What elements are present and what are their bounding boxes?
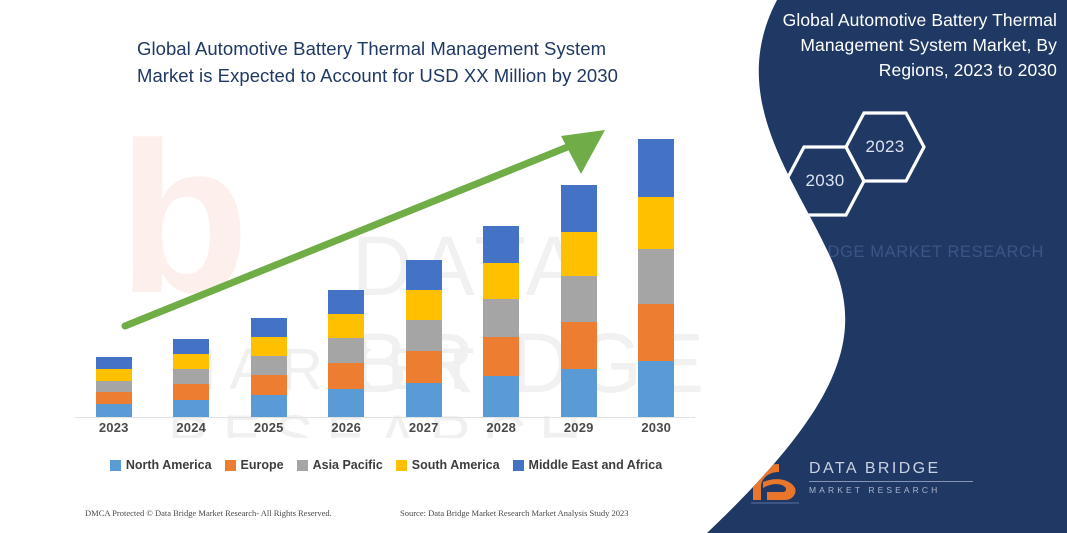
x-tick-2027: 2027	[394, 420, 454, 435]
legend-swatch-icon	[396, 460, 407, 471]
bar-segment-middle-east-and-africa-2027[interactable]	[406, 260, 442, 290]
hexagon-badge-2023: 2023	[843, 110, 927, 184]
legend-label: Europe	[241, 458, 284, 472]
bar-segment-europe-2029[interactable]	[561, 322, 597, 369]
legend-swatch-icon	[225, 460, 236, 471]
x-tick-2028: 2028	[471, 420, 531, 435]
bar-segment-europe-2030[interactable]	[638, 304, 674, 361]
footer: DMCA Protected © Data Bridge Market Rese…	[0, 505, 700, 529]
x-tick-2029: 2029	[549, 420, 609, 435]
bar-segment-south-america-2023[interactable]	[96, 369, 132, 381]
bar-segment-north-america-2024[interactable]	[173, 400, 209, 417]
bar-segment-south-america-2026[interactable]	[328, 314, 364, 338]
hexagon-2023-label: 2023	[865, 137, 904, 157]
x-tick-2025: 2025	[239, 420, 299, 435]
footer-copyright: DMCA Protected © Data Bridge Market Rese…	[85, 508, 332, 518]
bar-segment-asia-pacific-2028[interactable]	[483, 299, 519, 337]
bar-segment-south-america-2029[interactable]	[561, 232, 597, 276]
bar-segment-middle-east-and-africa-2026[interactable]	[328, 290, 364, 314]
bar-segment-europe-2024[interactable]	[173, 384, 209, 400]
bar-segment-north-america-2023[interactable]	[96, 404, 132, 417]
bar-segment-middle-east-and-africa-2024[interactable]	[173, 339, 209, 354]
bar-2026[interactable]	[328, 290, 364, 417]
right-side-panel: Global Automotive Battery Thermal Manage…	[667, 0, 1067, 533]
bar-segment-asia-pacific-2026[interactable]	[328, 338, 364, 363]
bar-segment-middle-east-and-africa-2029[interactable]	[561, 185, 597, 232]
logo-text-block: DATA BRIDGE MARKET RESEARCH	[809, 460, 973, 495]
bar-segment-asia-pacific-2030[interactable]	[638, 249, 674, 304]
legend-label: Middle East and Africa	[529, 458, 663, 472]
bar-segment-north-america-2030[interactable]	[638, 361, 674, 417]
bar-segment-north-america-2029[interactable]	[561, 369, 597, 417]
hexagon-2030-label: 2030	[805, 171, 844, 191]
bar-segment-asia-pacific-2027[interactable]	[406, 320, 442, 351]
bar-segment-middle-east-and-africa-2028[interactable]	[483, 226, 519, 263]
legend-swatch-icon	[297, 460, 308, 471]
legend-item-asia-pacific[interactable]: Asia Pacific	[297, 458, 383, 472]
panel-brand-text: DATA BRIDGE MARKET RESEARCH	[737, 240, 1057, 266]
stacked-bar-group	[75, 121, 695, 417]
legend-item-south-america[interactable]: South America	[396, 458, 500, 472]
logo-title: DATA BRIDGE	[809, 460, 973, 478]
legend-item-north-america[interactable]: North America	[110, 458, 212, 472]
bar-segment-south-america-2024[interactable]	[173, 354, 209, 369]
bar-segment-north-america-2027[interactable]	[406, 383, 442, 417]
x-tick-2024: 2024	[161, 420, 221, 435]
legend-item-middle-east-and-africa[interactable]: Middle East and Africa	[513, 458, 663, 472]
logo-subtitle: MARKET RESEARCH	[809, 485, 973, 495]
bar-segment-asia-pacific-2023[interactable]	[96, 381, 132, 392]
bar-segment-north-america-2028[interactable]	[483, 376, 519, 417]
panel-heading: Global Automotive Battery Thermal Manage…	[727, 8, 1057, 83]
bar-segment-europe-2026[interactable]	[328, 363, 364, 389]
x-tick-2026: 2026	[316, 420, 376, 435]
data-bridge-b-logo-icon	[747, 456, 803, 504]
page-title: Global Automotive Battery Thermal Manage…	[137, 36, 657, 90]
bar-segment-middle-east-and-africa-2023[interactable]	[96, 357, 132, 369]
bar-2029[interactable]	[561, 185, 597, 417]
bar-segment-asia-pacific-2024[interactable]	[173, 369, 209, 384]
legend-label: North America	[126, 458, 212, 472]
bar-2028[interactable]	[483, 226, 519, 417]
bar-2024[interactable]	[173, 339, 209, 417]
bar-segment-south-america-2030[interactable]	[638, 197, 674, 249]
bar-2027[interactable]	[406, 260, 442, 417]
footer-source: Source: Data Bridge Market Research Mark…	[400, 508, 629, 518]
brand-logo: DATA BRIDGE MARKET RESEARCH	[687, 452, 1017, 508]
legend-label: South America	[412, 458, 500, 472]
bar-2025[interactable]	[251, 318, 287, 417]
bar-segment-europe-2025[interactable]	[251, 375, 287, 395]
legend-swatch-icon	[513, 460, 524, 471]
bar-segment-europe-2023[interactable]	[96, 392, 132, 404]
bar-segment-middle-east-and-africa-2025[interactable]	[251, 318, 287, 337]
x-tick-2030: 2030	[626, 420, 686, 435]
bar-segment-south-america-2025[interactable]	[251, 337, 287, 356]
bar-segment-north-america-2026[interactable]	[328, 389, 364, 417]
bar-2030[interactable]	[638, 139, 674, 417]
x-axis-tick-labels: 20232024202520262027202820292030	[75, 420, 695, 444]
bar-segment-middle-east-and-africa-2030[interactable]	[638, 139, 674, 197]
chart-legend: North AmericaEuropeAsia PacificSouth Ame…	[96, 454, 676, 476]
legend-label: Asia Pacific	[313, 458, 383, 472]
x-axis-line	[75, 417, 695, 418]
logo-divider	[809, 481, 973, 482]
bar-segment-asia-pacific-2025[interactable]	[251, 356, 287, 375]
legend-item-europe[interactable]: Europe	[225, 458, 284, 472]
bar-segment-europe-2027[interactable]	[406, 351, 442, 383]
x-tick-2023: 2023	[84, 420, 144, 435]
bar-segment-europe-2028[interactable]	[483, 337, 519, 376]
bar-segment-south-america-2028[interactable]	[483, 263, 519, 299]
bar-segment-south-america-2027[interactable]	[406, 290, 442, 320]
legend-swatch-icon	[110, 460, 121, 471]
bar-segment-asia-pacific-2029[interactable]	[561, 276, 597, 322]
bar-segment-north-america-2025[interactable]	[251, 395, 287, 417]
bar-2023[interactable]	[96, 357, 132, 417]
chart-plot-area	[75, 118, 695, 418]
